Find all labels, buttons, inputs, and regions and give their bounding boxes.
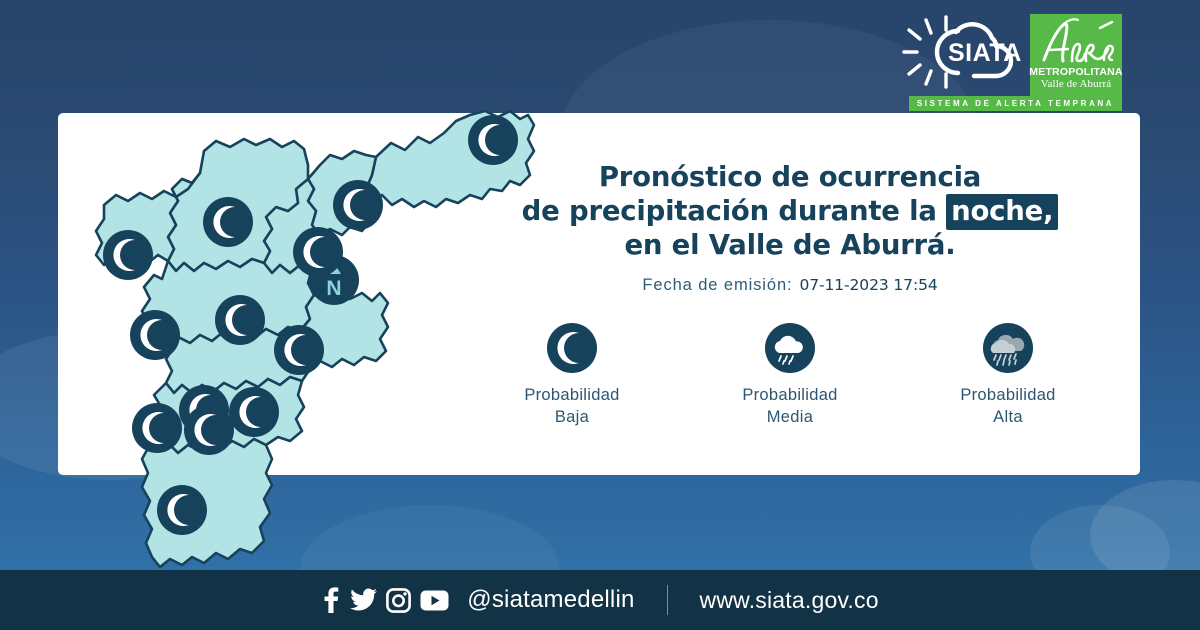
legend-item-baja: Probabilidad Baja — [508, 323, 636, 428]
siata-sun-cloud-icon: SIATA — [896, 14, 1022, 90]
map-marker-moon-icon — [132, 403, 182, 453]
header-logos: SIATA METROPOLITANA Valle de Aburrá — [896, 14, 1122, 96]
legend-label-media: Probabilidad Media — [742, 384, 837, 428]
map-marker-moon-icon — [215, 295, 265, 345]
area-metropolitana-logo: METROPOLITANA Valle de Aburrá — [1030, 14, 1122, 96]
social-handle[interactable]: @siatamedellin — [467, 586, 634, 614]
area-script-icon — [1030, 16, 1122, 68]
map-marker-moon-icon — [293, 227, 343, 277]
moon-icon — [547, 323, 597, 373]
title-line-1: Pronóstico de ocurrencia — [470, 160, 1110, 194]
title-highlight-noche: noche, — [946, 194, 1058, 230]
issue-date-value: 07-11-2023 17:54 — [800, 276, 938, 294]
siata-tagline-text: SISTEMA DE ALERTA TEMPRANA — [917, 99, 1114, 108]
twitter-icon[interactable] — [350, 588, 377, 612]
map-marker-moon-icon — [184, 405, 234, 455]
title-line-3: en el Valle de Aburrá. — [470, 228, 1110, 262]
map-marker-moon-icon — [274, 325, 324, 375]
title-line-2: de precipitación durante la noche, — [470, 194, 1110, 228]
title-line-2-text: de precipitación durante la — [522, 195, 946, 227]
siata-logo: SIATA — [896, 14, 1022, 90]
youtube-icon[interactable] — [420, 590, 449, 611]
map-marker-moon-icon — [130, 310, 180, 360]
page-title: Pronóstico de ocurrencia de precipitació… — [470, 160, 1110, 262]
probability-legend: Probabilidad Baja Probabilidad Media — [470, 323, 1110, 428]
map-marker-moon-icon — [468, 115, 518, 165]
infographic-canvas: SIATA METROPOLITANA Valle de Aburrá SIST… — [0, 0, 1200, 630]
map-marker-moon-icon — [157, 485, 207, 535]
instagram-icon[interactable] — [386, 588, 411, 613]
issue-date: Fecha de emisión: 07-11-2023 17:54 — [470, 276, 1110, 295]
social-icons — [321, 587, 449, 613]
legend-label-baja: Probabilidad Baja — [524, 384, 619, 428]
cloud-rain-moon-icon — [765, 323, 815, 373]
siata-wordmark: SIATA — [948, 39, 1022, 67]
legend-item-media: Probabilidad Media — [726, 323, 854, 428]
map-marker-moon-icon — [103, 230, 153, 280]
siata-tagline-bar: SISTEMA DE ALERTA TEMPRANA — [909, 96, 1122, 111]
cloud-heavy-rain-icon — [983, 323, 1033, 373]
map-marker-moon-icon — [229, 387, 279, 437]
footer-bar: @siatamedellin www.siata.gov.co — [0, 570, 1200, 630]
footer-divider — [667, 585, 668, 615]
facebook-icon[interactable] — [321, 587, 341, 613]
map-marker-moon-icon — [203, 197, 253, 247]
legend-label-alta: Probabilidad Alta — [960, 384, 1055, 428]
map-marker-moon-icon — [333, 180, 383, 230]
compass-label: N — [326, 277, 341, 300]
legend-item-alta: Probabilidad Alta — [944, 323, 1072, 428]
forecast-content: Pronóstico de ocurrencia de precipitació… — [470, 160, 1110, 428]
issue-date-label: Fecha de emisión: — [642, 276, 792, 295]
area-metropolitana-line2: Valle de Aburrá — [1041, 78, 1112, 91]
footer-content: @siatamedellin www.siata.gov.co — [321, 585, 878, 615]
website-url[interactable]: www.siata.gov.co — [700, 587, 879, 614]
